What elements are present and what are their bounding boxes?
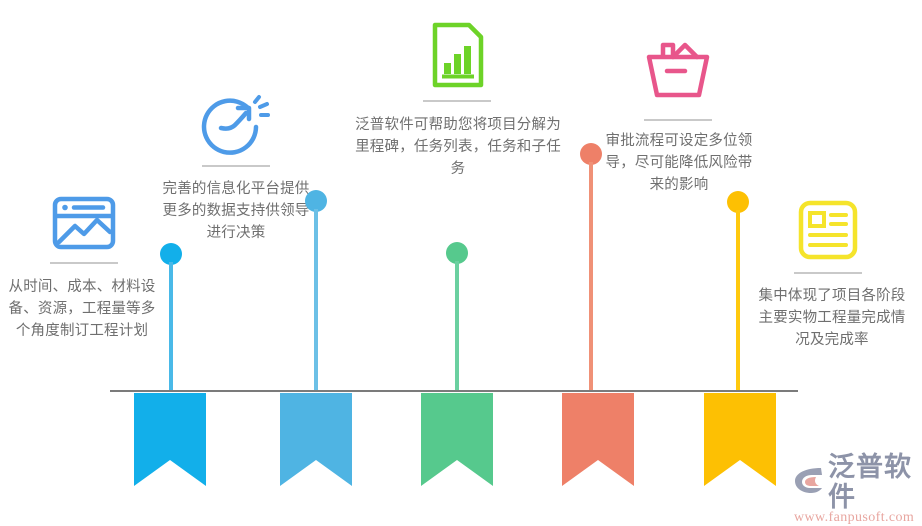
fanpu-mark-icon: [792, 465, 824, 500]
target-arrow-icon: [196, 92, 276, 162]
ribbon-banner: [562, 393, 634, 486]
ribbon-banner: [421, 393, 493, 486]
logo-row: 泛普软件: [792, 452, 922, 512]
caption-text: 集中体现了项目各阶段主要实物工程量完成情况及完成率: [752, 285, 912, 351]
logo-brand-text: 泛普软件: [828, 452, 922, 512]
ribbon-banner: [280, 393, 352, 486]
caption-divider: [423, 100, 491, 102]
brand-logo: 泛普软件 www.fanpusoft.com: [792, 452, 922, 526]
timeline-stem: [314, 209, 318, 392]
ribbon-banner: [134, 393, 206, 486]
timeline-stem: [169, 262, 173, 392]
caption-text: 泛普软件可帮助您将项目分解为里程碑，任务列表，任务和子任务: [353, 114, 563, 180]
caption-divider: [50, 262, 118, 264]
document-bar-chart-icon: [422, 18, 494, 92]
caption-divider: [202, 165, 270, 167]
article-list-icon: [792, 196, 864, 264]
timeline-stem: [736, 210, 740, 392]
caption-text: 完善的信息化平台提供更多的数据支持供领导进行决策: [158, 178, 314, 244]
timeline-stem: [589, 162, 593, 392]
caption-text: 从时间、成本、材料设备、资源，工程量等多个角度制订工程计划: [8, 276, 156, 342]
timeline-baseline: [110, 390, 798, 392]
timeline-stem: [455, 261, 459, 392]
logo-url-text: www.fanpusoft.com: [794, 510, 914, 526]
caption-divider: [644, 119, 712, 121]
basket-minus-icon: [638, 36, 718, 104]
caption-text: 审批流程可设定多位领导，尽可能降低风险带来的影响: [603, 130, 755, 196]
ribbon-banner: [704, 393, 776, 486]
chart-card-icon: [44, 192, 124, 254]
caption-divider: [794, 272, 862, 274]
infographic-canvas: 从时间、成本、材料设备、资源，工程量等多个角度制订工程计划 完善的信息化平台提供…: [0, 0, 922, 514]
